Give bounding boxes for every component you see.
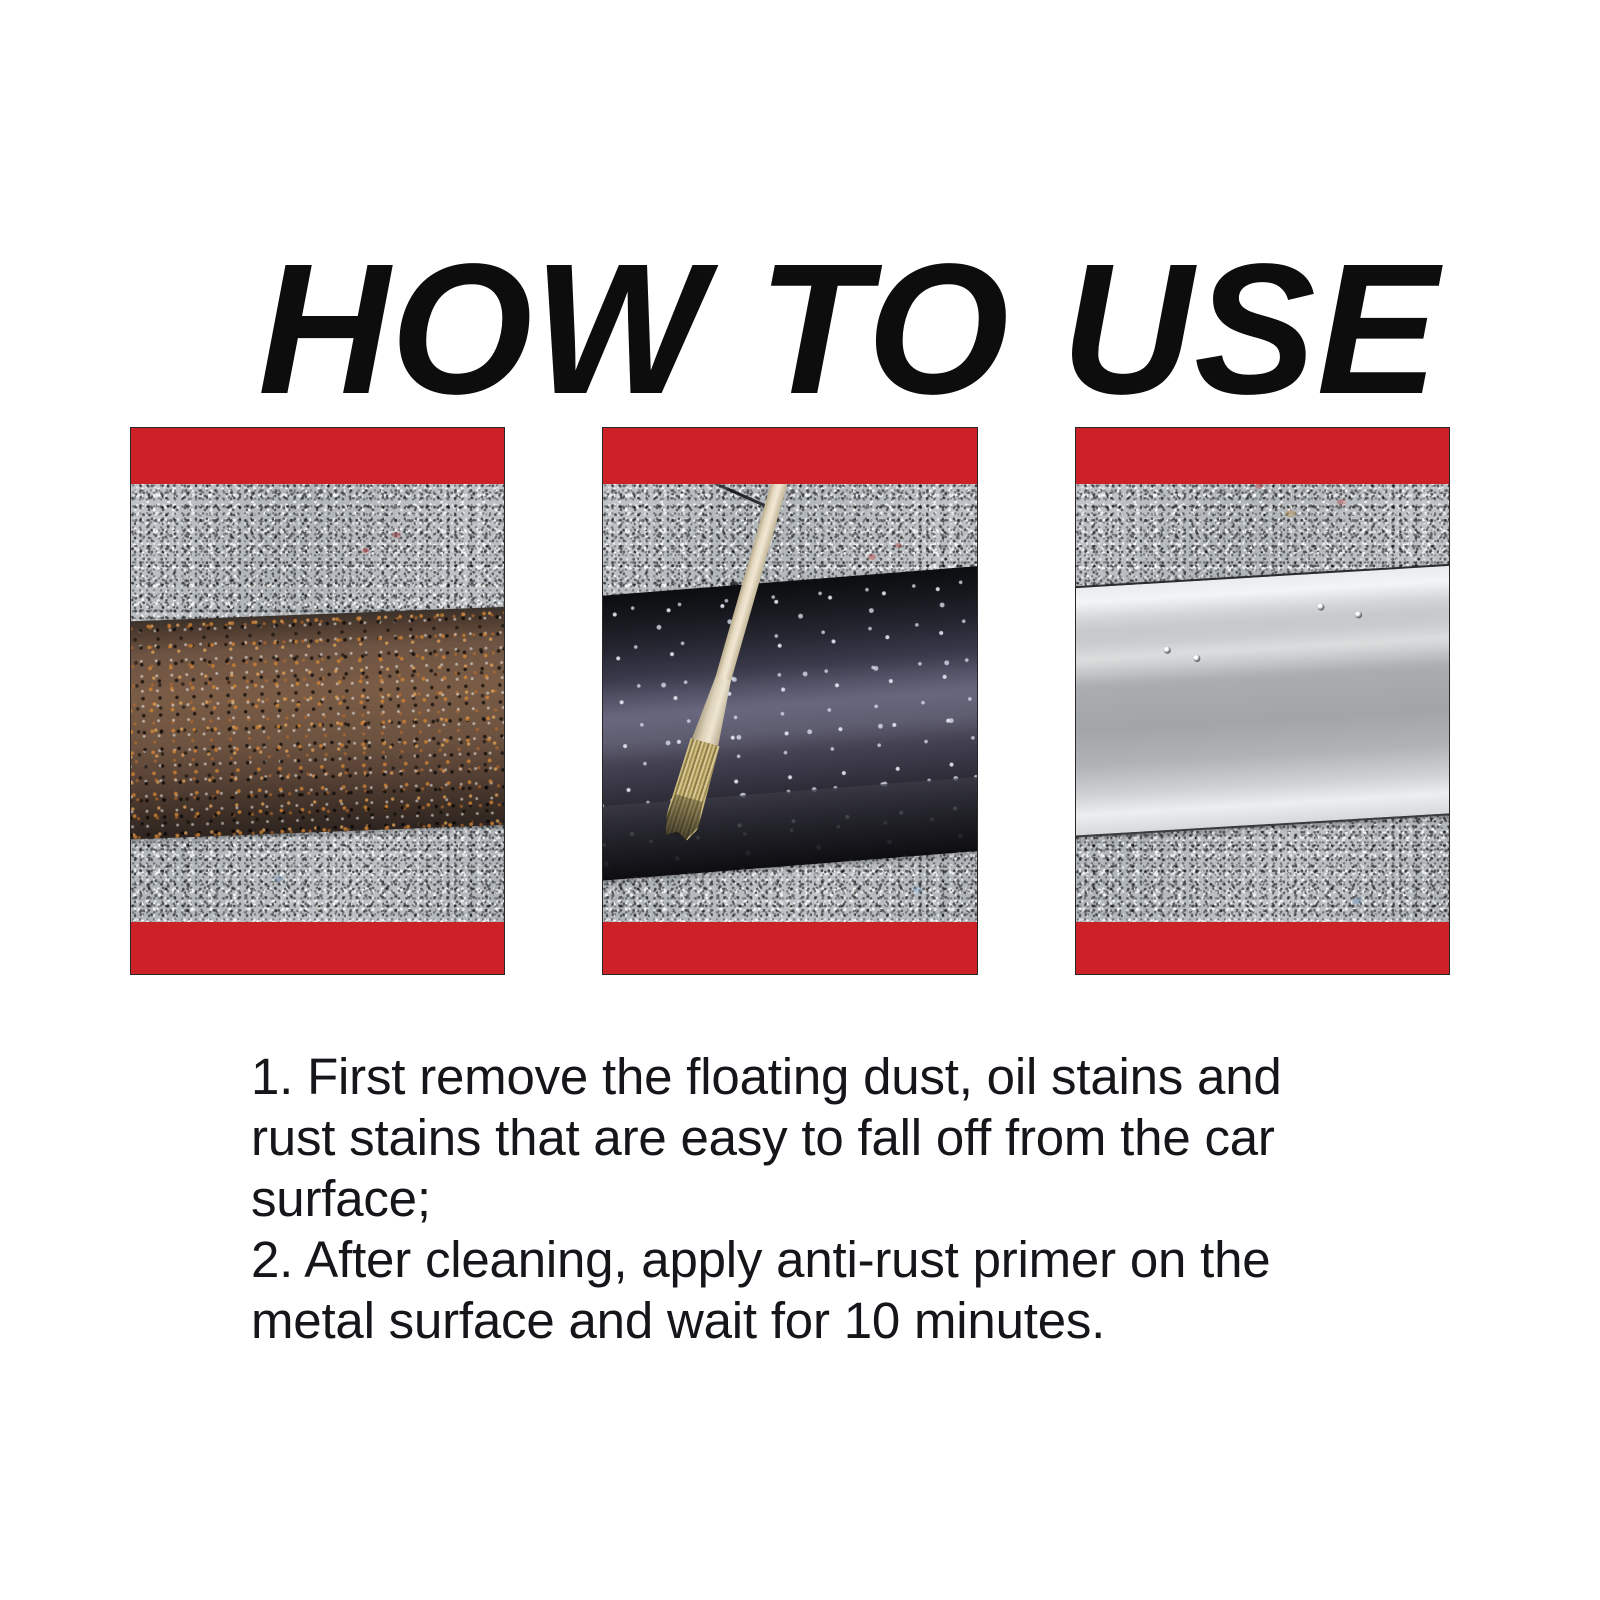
rusty-metal-bar — [130, 605, 505, 841]
instruction-line-2: rust stains that are easy to fall off fr… — [251, 1107, 1401, 1168]
instruction-line-5: metal surface and wait for 10 minutes. — [251, 1290, 1401, 1351]
red-band-bottom — [1076, 922, 1449, 974]
metal-sheen — [1075, 608, 1450, 690]
metal-pit — [1317, 603, 1324, 610]
instruction-line-3: surface; — [251, 1168, 1401, 1229]
step-3-panel: clean-metal-bar-after-treatment — [1075, 427, 1450, 975]
instruction-line-1: 1. First remove the floating dust, oil s… — [251, 1046, 1401, 1107]
instructions-text: 1. First remove the floating dust, oil s… — [251, 1046, 1401, 1351]
primed-metal-bar — [602, 563, 977, 883]
page-title: HOW TO USE — [258, 245, 1336, 415]
red-band-bottom — [131, 922, 504, 974]
clean-metal-bar — [1075, 562, 1450, 841]
step-1-panel: rusty-metal-bar-before-treatment — [130, 427, 505, 975]
step-2-panel: brush-applying-anti-rust-primer — [602, 427, 977, 975]
red-band-top — [603, 428, 976, 484]
red-band-top — [131, 428, 504, 484]
red-band-top — [1076, 428, 1449, 484]
how-to-use-image-strip: rusty-metal-bar-before-treatment brush-a… — [90, 411, 1490, 959]
red-band-bottom — [603, 922, 976, 974]
rust-texture — [130, 605, 505, 841]
instruction-line-4: 2. After cleaning, apply anti-rust prime… — [251, 1229, 1401, 1290]
